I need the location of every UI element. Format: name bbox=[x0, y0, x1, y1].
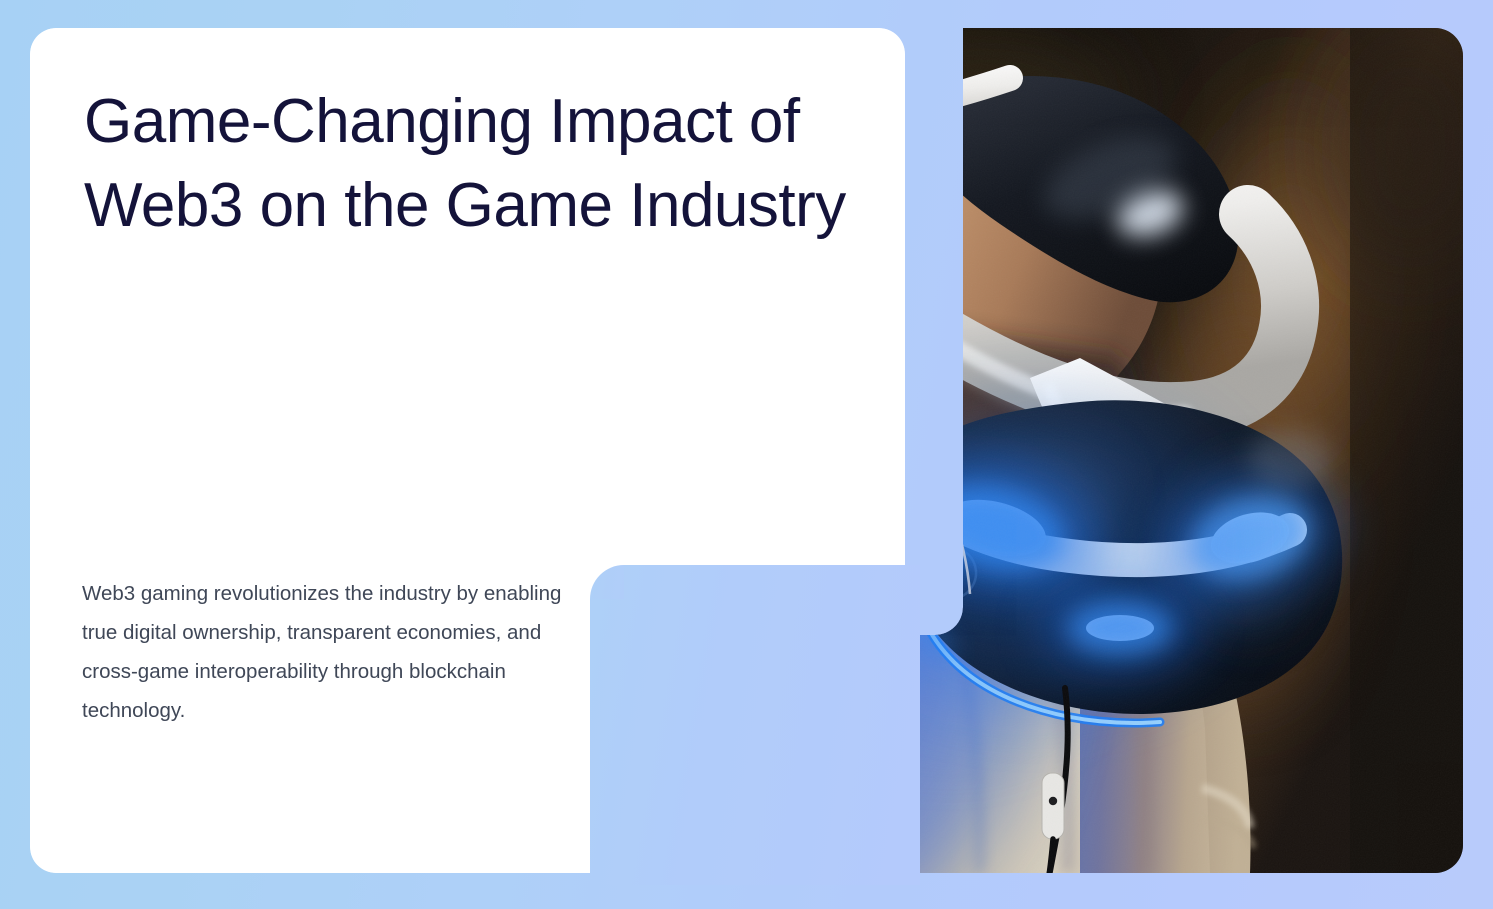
card-notch-cutout bbox=[590, 565, 920, 885]
page-title: Game-Changing Impact of Web3 on the Game… bbox=[84, 80, 854, 248]
slide-root: Game-Changing Impact of Web3 on the Game… bbox=[0, 0, 1493, 909]
subtitle-paragraph: Web3 gaming revolutionizes the industry … bbox=[82, 574, 582, 730]
